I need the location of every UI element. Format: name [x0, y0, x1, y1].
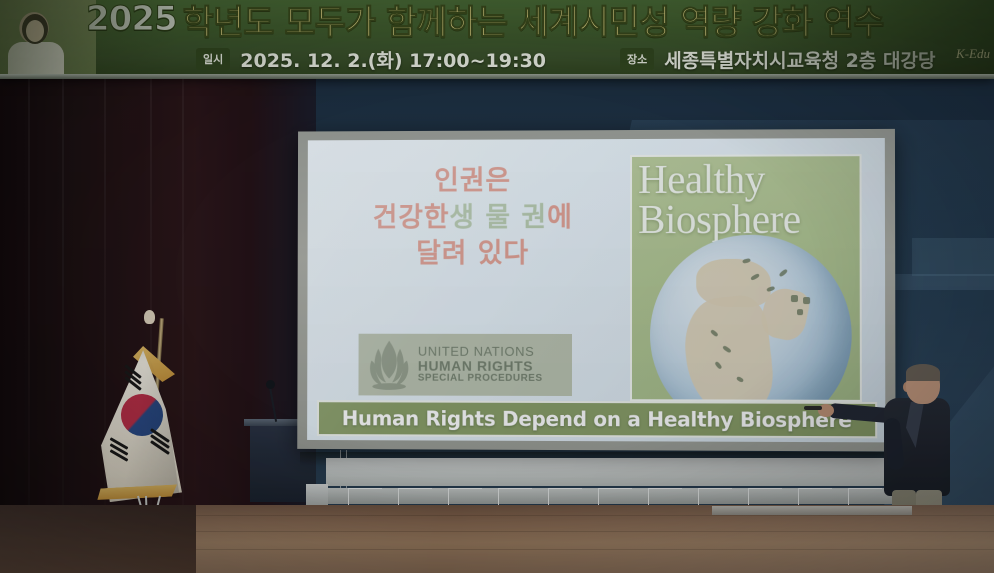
korean-text-geonganghan: 건강한	[373, 202, 450, 233]
un-logo-line-3: SPECIAL PROCEDURES	[418, 374, 543, 385]
projection-screen: 인권은 건강한생 물 권에 달려 있다	[307, 138, 885, 442]
flag-shading	[95, 346, 201, 504]
un-logo-text: UNITED NATIONS HUMAN RIGHTS SPECIAL PROC…	[418, 345, 543, 384]
stage-truss	[288, 452, 902, 510]
globe-icon	[650, 235, 852, 402]
slide-caption-text: Human Rights Depend on a Healthy Biosphe…	[342, 406, 852, 432]
biosphere-title-line-2: Biosphere	[638, 199, 858, 240]
wall-panel-rect	[912, 238, 994, 276]
presenter-pointer-device	[804, 406, 822, 410]
un-human-rights-logo: UNITED NATIONS HUMAN RIGHTS SPECIAL PROC…	[358, 334, 572, 396]
biosphere-title: Healthy Biosphere	[638, 158, 858, 239]
korean-text-dallyeoitda: 달려 있다	[416, 239, 529, 270]
presentation-slide: 인권은 건강한생 물 권에 달려 있다	[307, 138, 885, 442]
korean-text-e: 에	[547, 202, 573, 233]
projection-screen-frame: 인권은 건강한생 물 권에 달려 있다	[297, 129, 895, 452]
korean-text-inkwon: 인권은	[434, 165, 511, 196]
banner-bottom-edge	[0, 74, 994, 79]
korean-text-saengmulgwon: 생 물 권	[449, 202, 547, 233]
un-flame-icon	[366, 339, 412, 391]
floor-reflection	[0, 505, 994, 573]
banner-lighting-shade	[0, 0, 994, 78]
flag-finial	[144, 310, 155, 324]
wall-horizontal-band	[880, 274, 994, 290]
biosphere-title-line-1: Healthy	[638, 158, 858, 199]
banner-signature-mark: K-Edu	[956, 46, 990, 62]
microphone-icon	[266, 380, 275, 389]
un-logo-line-2: HUMAN RIGHTS	[418, 359, 543, 374]
korean-line-1: 인권은	[329, 163, 617, 200]
photo-canvas: 인권은 건강한생 물 권에 달려 있다	[0, 0, 994, 573]
korean-line-3: 달려 있다	[329, 236, 617, 273]
slide-korean-headline: 인권은 건강한생 물 권에 달려 있다	[329, 163, 617, 273]
healthy-biosphere-panel: Healthy Biosphere	[630, 154, 862, 402]
truss-top-rail	[326, 458, 902, 486]
presenter-hair	[906, 364, 940, 381]
slide-caption-bar: Human Rights Depend on a Healthy Biosphe…	[317, 400, 877, 438]
korean-line-2: 건강한생 물 권에	[329, 200, 617, 237]
event-banner: 2025 학년도 모두가 함께하는 세계시민성 역량 강화 연수 일시 2025…	[0, 0, 994, 78]
